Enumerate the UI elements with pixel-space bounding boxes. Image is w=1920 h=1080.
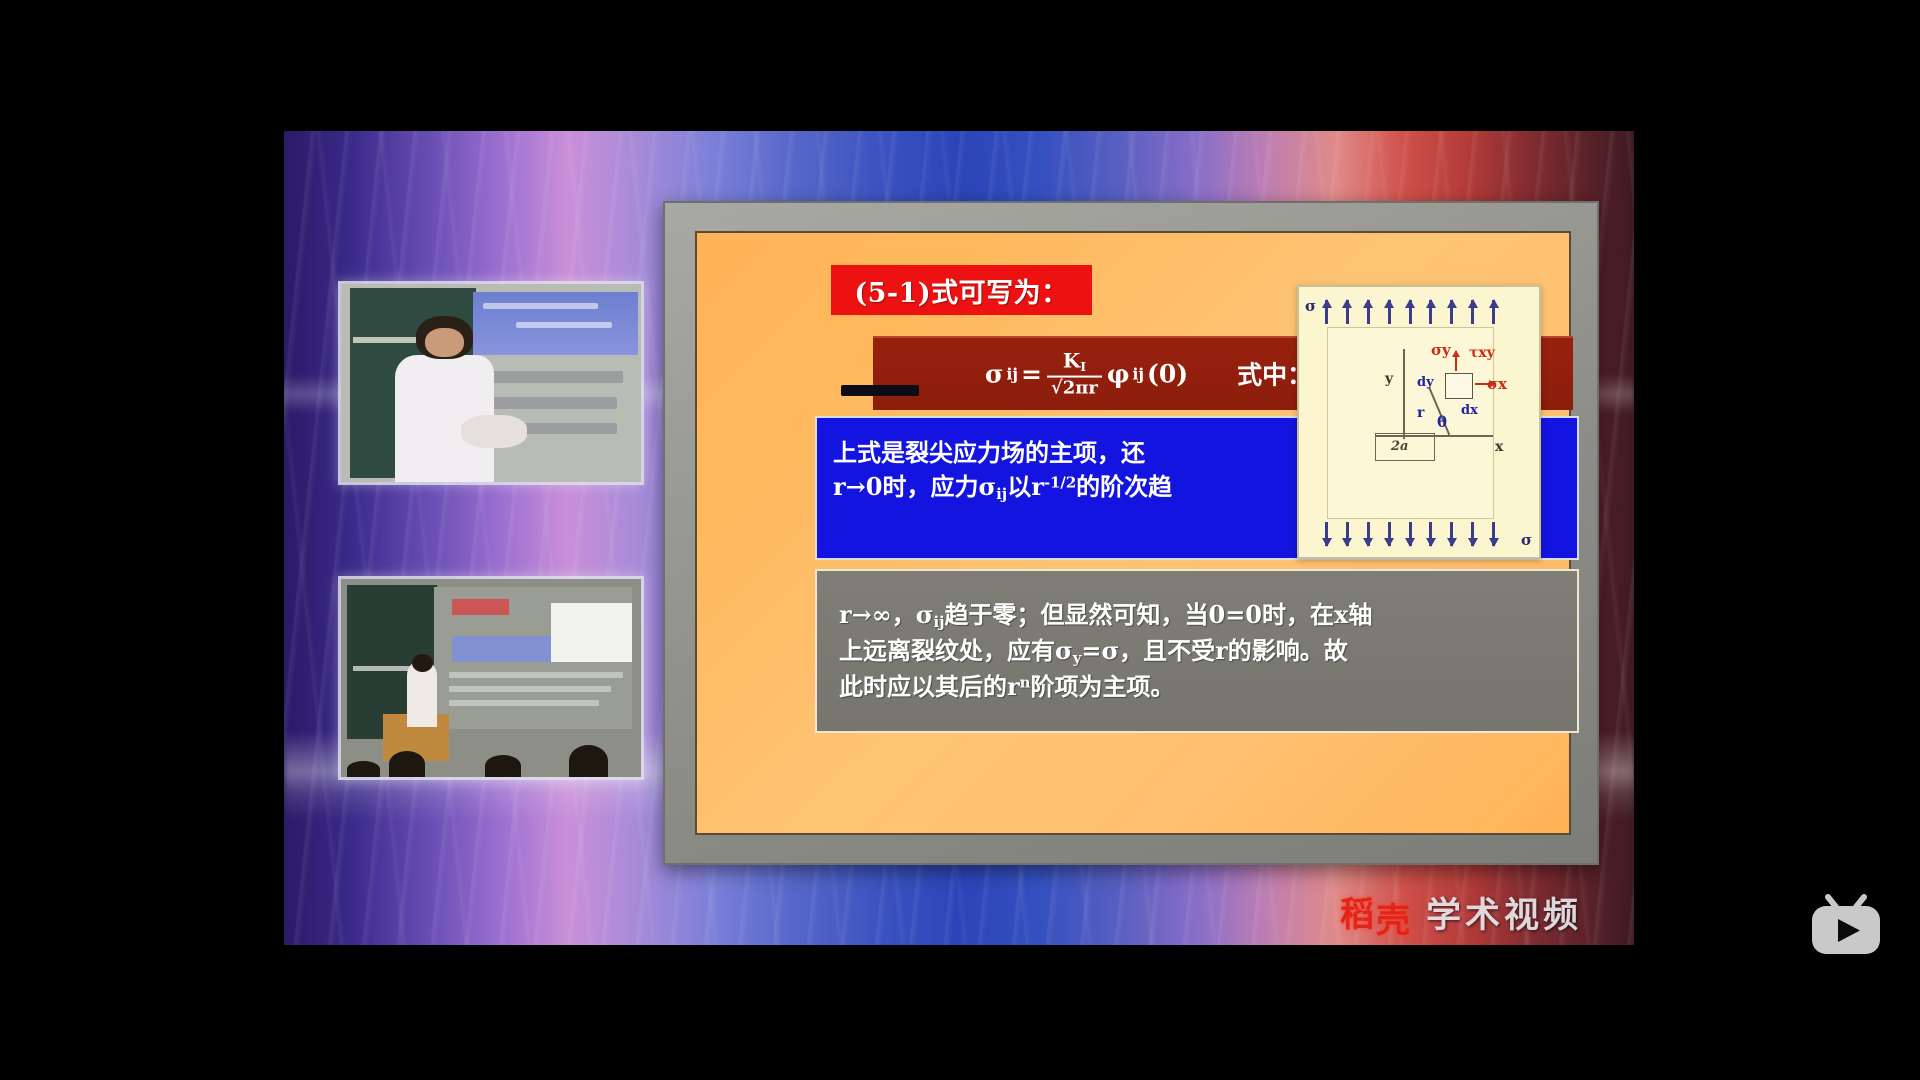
bottom-load-arrows	[1325, 521, 1495, 547]
formula-frac-numerator: KI	[1059, 351, 1090, 374]
center-crack-stress-element-diagram: σ σ y x	[1297, 285, 1541, 559]
projection-screen	[473, 292, 638, 355]
tv-play-icon[interactable]	[1808, 892, 1884, 958]
stress-element-square	[1445, 373, 1473, 399]
y-axis-label: y	[1385, 371, 1393, 387]
gray-text-box: r→∞，σij趋于零；但显然可知，当0=0时，在x轴 上远离裂纹处，应有σy=σ…	[815, 569, 1579, 733]
theta-label: θ	[1437, 413, 1447, 431]
slide-white-panel	[551, 603, 632, 662]
sigma-bottom-label: σ	[1521, 531, 1532, 549]
slide-content: (5-1)式可写为： σij = KI √2πr φij(0) 式中：K	[695, 231, 1571, 835]
slide-red-title	[452, 599, 509, 615]
tau-xy-label: τxy	[1469, 345, 1495, 361]
brand-logo-glyph-2: 壳	[1376, 893, 1410, 942]
pillarbox-left	[0, 0, 284, 1080]
slide-banner: (5-1)式可写为：	[831, 265, 1092, 315]
formula-equals: =	[1021, 360, 1042, 389]
formula-phi-sub: ij	[1133, 365, 1145, 384]
gray-line-3: 此时应以其后的rn阶项为主项。	[817, 669, 1577, 705]
thumbnail-lecture-hall-wide[interactable]	[338, 576, 644, 780]
sigma-y-arrow	[1455, 351, 1457, 371]
watermark-text: 学术视频	[1426, 887, 1582, 938]
formula-expression: σij = KI √2πr φij(0) 式中：K	[985, 351, 1334, 398]
student-head	[347, 761, 380, 777]
formula-lhs: σ	[985, 360, 1003, 389]
formula-phi: φ	[1107, 360, 1130, 389]
watermark: 稻 壳 学术视频	[1340, 878, 1620, 946]
formula-lhs-sub: ij	[1006, 365, 1018, 384]
x-axis-label: x	[1495, 439, 1503, 455]
letterbox-bottom	[0, 945, 1920, 1080]
formula-fraction: KI √2πr	[1047, 351, 1102, 398]
letterbox-top	[0, 0, 1920, 131]
student-head	[569, 745, 608, 777]
gray-line-2: 上远离裂纹处，应有σy=σ，且不受r的影响。故	[817, 633, 1577, 669]
student-head	[485, 755, 521, 777]
thumbnail-2-scene	[341, 579, 641, 777]
brand-logo-icon: 稻 壳	[1340, 881, 1418, 943]
top-load-arrows	[1325, 299, 1495, 325]
video-player-stage: (5-1)式可写为： σij = KI √2πr φij(0) 式中：K	[0, 0, 1920, 1080]
sigma-x-label: σx	[1487, 375, 1507, 393]
formula-frac-denominator: √2πr	[1047, 379, 1102, 397]
slide-blue-panel	[452, 636, 551, 662]
slide-banner-text: (5-1)式可写为：	[854, 271, 1068, 310]
speaker-head	[412, 654, 433, 672]
dy-label: dy	[1417, 375, 1434, 390]
sigma-y-label: σy	[1431, 341, 1451, 359]
dx-label: dx	[1461, 403, 1478, 418]
lecturer-face	[425, 328, 464, 358]
gray-line-1: r→∞，σij趋于零；但显然可知，当0=0时，在x轴	[817, 597, 1577, 633]
slide-frame: (5-1)式可写为： σij = KI √2πr φij(0) 式中：K	[663, 201, 1599, 865]
figure-inner: σ σ y x	[1299, 287, 1539, 557]
y-axis	[1403, 349, 1405, 439]
thumbnail-1-scene	[341, 284, 641, 482]
thumbnail-lecturer-closeup[interactable]	[338, 281, 644, 485]
crack-width-label: 2a	[1391, 439, 1408, 454]
formula-arg: (0)	[1147, 360, 1188, 389]
lecturer-hands	[461, 415, 527, 449]
sigma-top-label: σ	[1305, 297, 1316, 315]
bullet-dash	[841, 385, 919, 396]
r-label: r	[1417, 405, 1424, 421]
student-head	[389, 751, 425, 777]
brand-logo-glyph-1: 稻	[1340, 887, 1374, 936]
